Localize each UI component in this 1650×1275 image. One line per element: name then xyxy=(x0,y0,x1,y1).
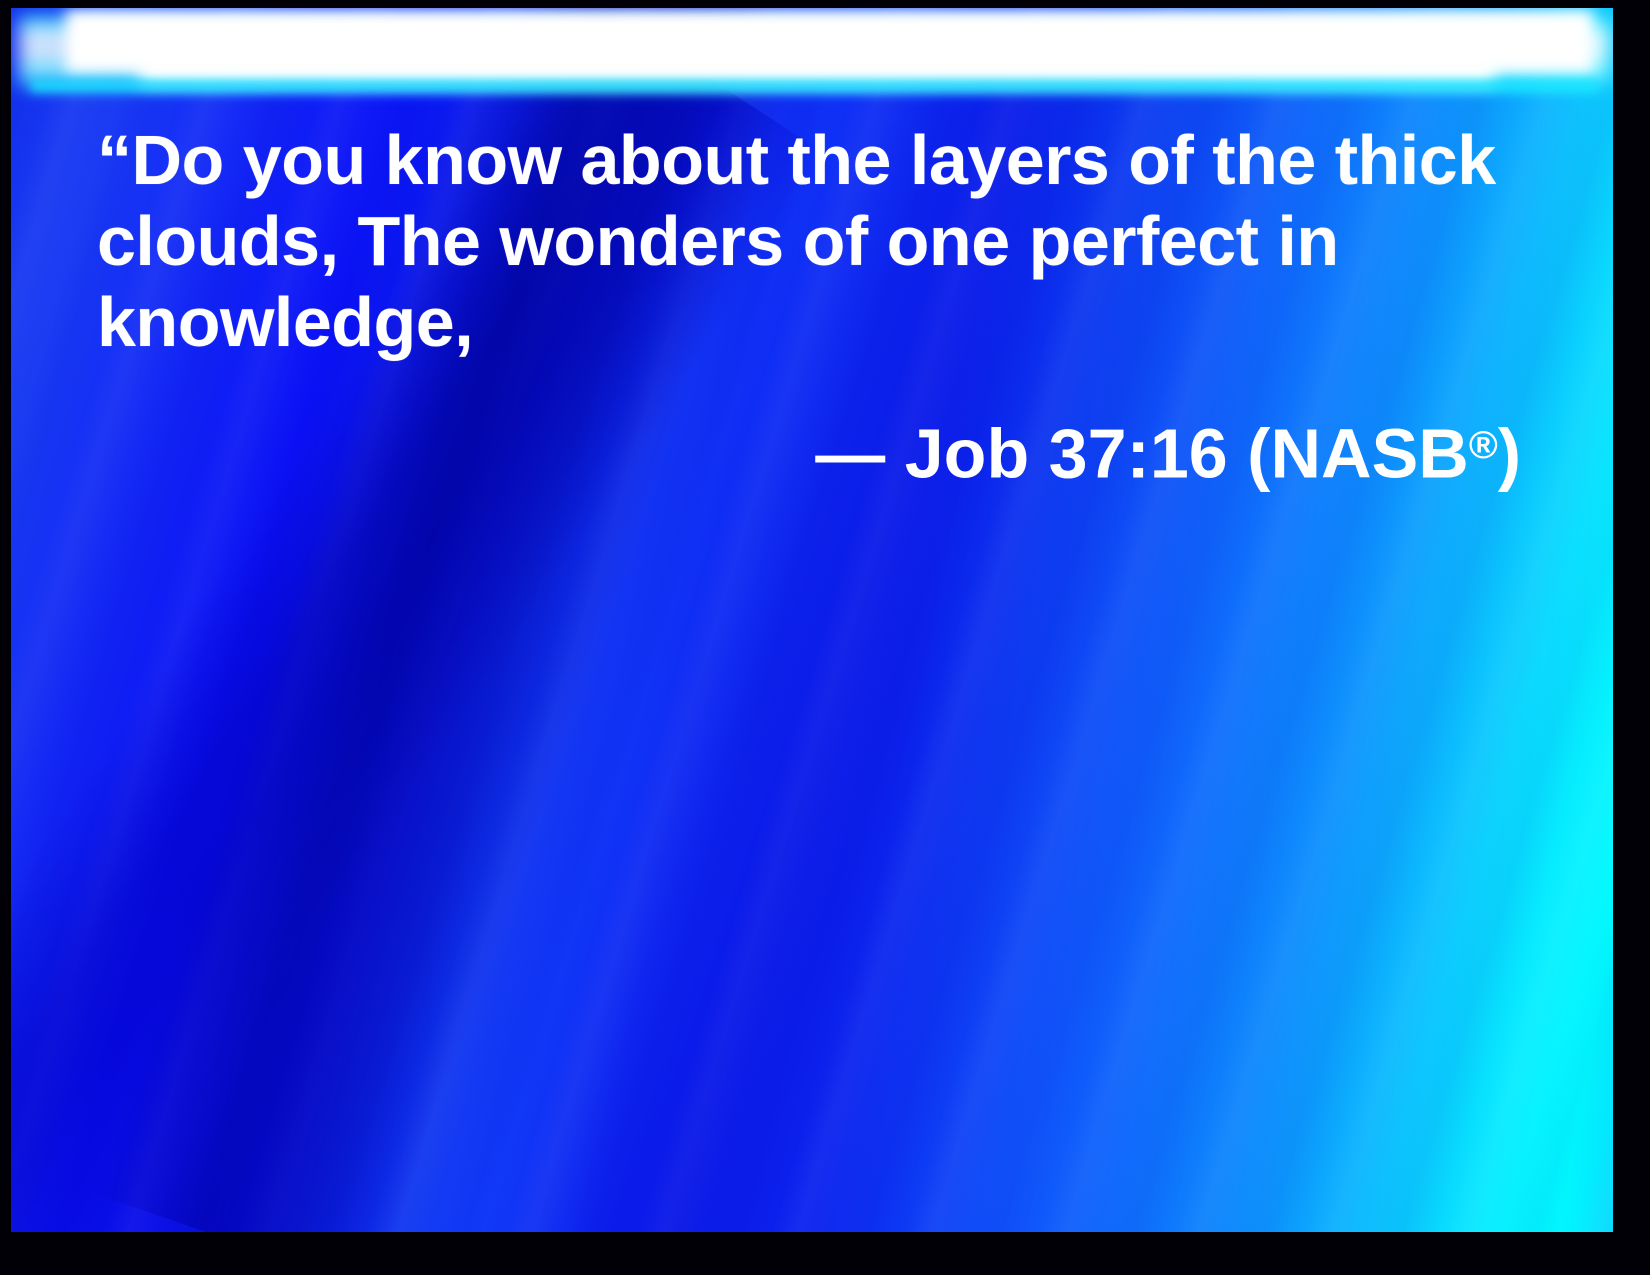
top-glow-band xyxy=(11,8,1613,100)
scripture-text-block: “Do you know about the layers of the thi… xyxy=(97,120,1527,493)
citation-translation-close: ) xyxy=(1498,415,1521,493)
scripture-citation: — Job 37:16 (NASB®) xyxy=(97,407,1527,493)
quote-line-3: knowledge, xyxy=(97,282,1527,363)
top-glow-cyan-edge xyxy=(31,80,1597,92)
citation-book: Job xyxy=(905,415,1029,493)
scripture-slide: “Do you know about the layers of the thi… xyxy=(0,0,1650,1275)
registered-trademark-icon: ® xyxy=(1469,424,1498,467)
quote-line-1: “Do you know about the layers of the thi… xyxy=(97,120,1527,201)
citation-em-dash: — xyxy=(815,415,885,493)
quote-line-2: clouds, The wonders of one perfect in xyxy=(97,201,1527,282)
citation-translation-open: (NASB xyxy=(1247,415,1469,493)
citation-reference: 37:16 xyxy=(1049,415,1228,493)
slide-canvas: “Do you know about the layers of the thi… xyxy=(11,8,1613,1232)
slide-black-border: “Do you know about the layers of the thi… xyxy=(0,0,1650,1275)
